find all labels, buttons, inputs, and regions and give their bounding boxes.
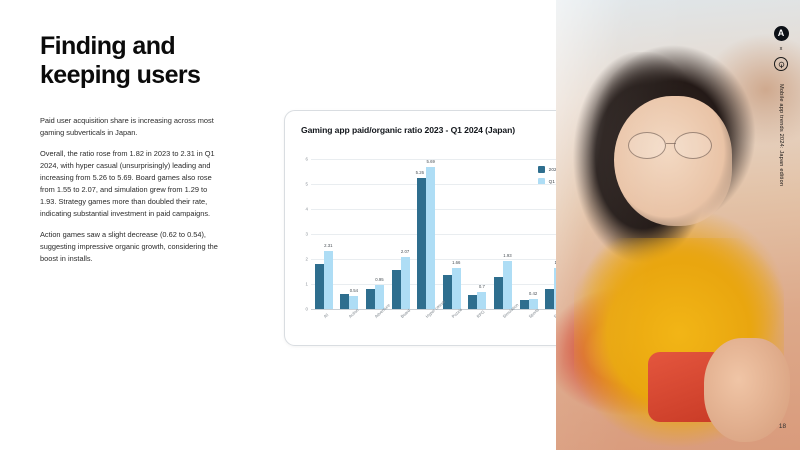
bar-group[interactable]: 1.66 [439,159,465,309]
x-axis-label-cell: Hyper casual [413,312,439,344]
bar-value-label: 1.66 [452,260,460,265]
bar-group[interactable]: 0.95 [362,159,388,309]
bar-q1-2024[interactable]: 2.07 [401,257,410,309]
chart-baseline [311,309,567,310]
bar-2023[interactable] [392,270,401,309]
bar-value-label: 5.26 [416,170,424,175]
chart-plot-area: 0123456 2.310.540.952.075.265.691.660.71… [299,159,567,329]
body-copy: Paid user acquisition share is increasin… [40,115,222,265]
bar-2023[interactable] [468,295,477,309]
chart-y-axis: 0123456 [299,159,310,309]
x-axis-label-cell: Action [337,312,363,344]
x-axis-label-cell: Puzzle [439,312,465,344]
bar-value-label: 2.31 [324,243,332,248]
bar-2023[interactable] [494,277,503,309]
bar-group[interactable]: 1.93 [490,159,516,309]
brand-rail: A x Mobile app trends 2024: Japan editio… [768,26,794,186]
bar-q1-2024[interactable]: 1.93 [503,261,512,309]
bar-value-label: 0.54 [350,288,358,293]
x-axis-label-cell: Board [388,312,414,344]
bar-value-label: 0.7 [479,284,485,289]
x-axis-label-cell: All [311,312,337,344]
bar-2023[interactable] [315,264,324,310]
page-title: Finding and keeping users [40,32,200,91]
hero-photo-panel: A x Mobile app trends 2024: Japan editio… [556,0,800,450]
bar-q1-2024[interactable]: 5.69 [426,167,435,309]
y-axis-tick: 3 [306,232,308,237]
bar-group[interactable]: 0.42 [516,159,542,309]
bar-q1-2024[interactable]: 0.7 [477,292,486,310]
bar-value-label: 2.07 [401,249,409,254]
bar-group[interactable]: 0.54 [337,159,363,309]
x-axis-label-cell: Simulation [490,312,516,344]
bar-2023[interactable]: 5.26 [417,178,426,310]
deck-title-vertical: Mobile app trends 2024: Japan edition [778,84,784,186]
bar-2023[interactable] [366,289,375,309]
bar-q1-2024[interactable]: 2.31 [324,251,333,309]
bar-value-label: 5.69 [426,159,434,164]
bar-q1-2024[interactable]: 0.54 [349,296,358,310]
y-axis-tick: 4 [306,207,308,212]
appsflyer-logo-icon: A [774,26,789,41]
collab-x-icon: x [780,46,783,52]
bar-group[interactable]: 2.31 [311,159,337,309]
bar-value-label: 1.93 [503,253,511,258]
chart-x-axis-labels: AllActionAdventureBoardHyper casualPuzzl… [311,312,567,344]
bar-2023[interactable] [340,294,349,310]
bar-group[interactable]: 0.7 [465,159,491,309]
paragraph-3: Action games saw a slight decrease (0.62… [40,229,222,265]
x-axis-label: RPG [476,309,486,319]
y-axis-tick: 2 [306,257,308,262]
x-axis-label: All [322,312,329,319]
x-axis-label-cell: Adventure [362,312,388,344]
partner-logo-icon [774,57,788,71]
chart-card: Gaming app paid/organic ratio 2023 - Q1 … [284,110,580,346]
page-number: 18 [779,423,786,430]
bar-value-label: 0.42 [529,291,537,296]
x-axis-label-cell: Sports [516,312,542,344]
bar-value-label: 0.95 [375,277,383,282]
paragraph-1: Paid user acquisition share is increasin… [40,115,222,139]
x-axis-label-cell: RPG [465,312,491,344]
y-axis-tick: 6 [306,157,308,162]
bar-group[interactable]: 2.07 [388,159,414,309]
chart-title: Gaming app paid/organic ratio 2023 - Q1 … [301,125,515,135]
bar-q1-2024[interactable]: 1.66 [452,268,461,310]
paragraph-2: Overall, the ratio rose from 1.82 in 202… [40,148,222,220]
bar-group[interactable]: 5.265.69 [413,159,439,309]
bar-2023[interactable] [545,289,554,309]
y-axis-tick: 1 [306,282,308,287]
slide-left-panel: Finding and keeping users Paid user acqu… [0,0,556,450]
photo-overlay-gradient [556,0,800,450]
chart-bars: 2.310.540.952.075.265.691.660.71.930.421… [311,159,567,309]
y-axis-tick: 5 [306,182,308,187]
y-axis-tick: 0 [306,307,308,312]
bar-2023[interactable] [520,300,529,309]
